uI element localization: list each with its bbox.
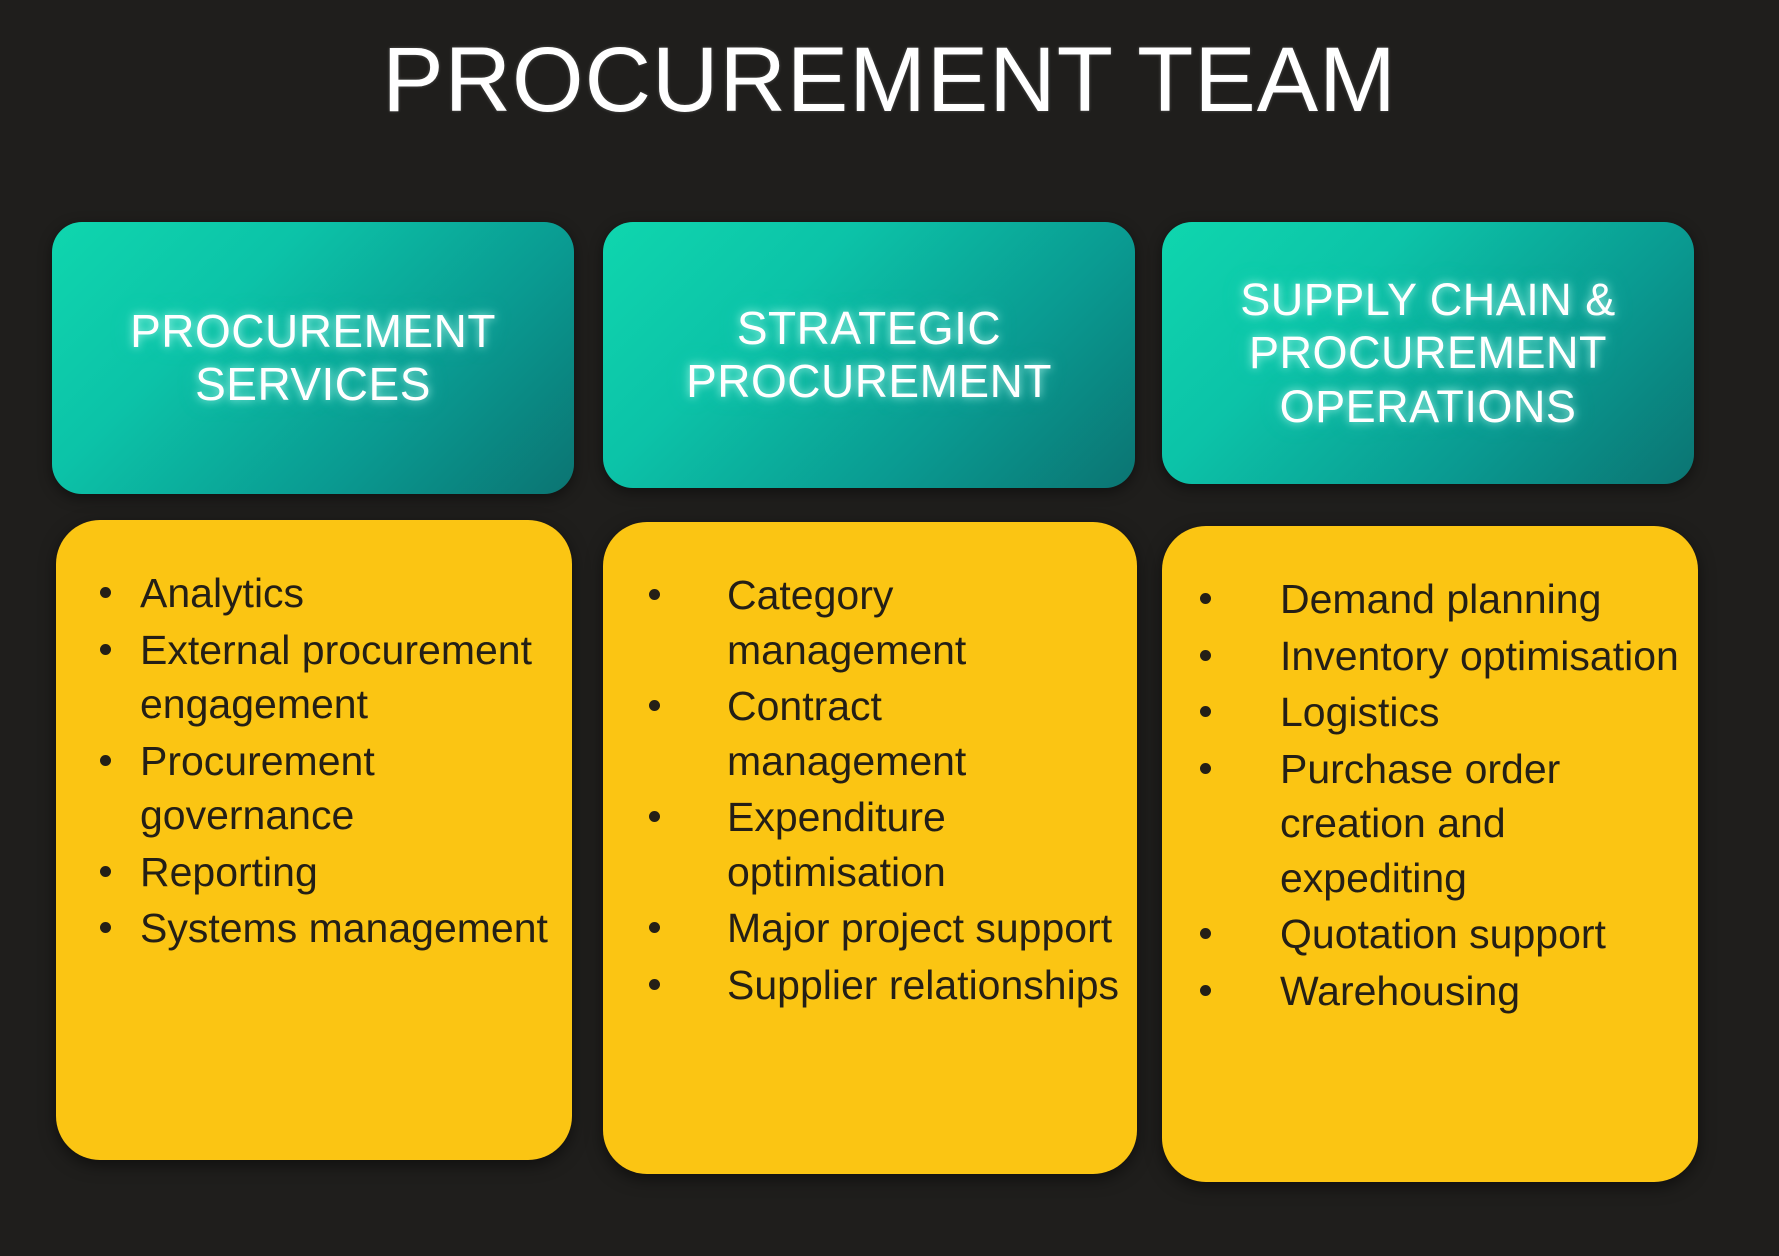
body-card-supply-chain-operations: Demand planning Inventory optimisation L…	[1162, 526, 1698, 1182]
bullet-icon	[649, 700, 660, 711]
list-item-label: Quotation support	[1280, 911, 1606, 957]
body-card-strategic-procurement: Category management Contract management …	[603, 522, 1137, 1174]
list-item-label: Inventory optimisation	[1280, 633, 1679, 679]
header-card-procurement-services[interactable]: PROCUREMENT SERVICES	[52, 222, 574, 494]
list-item-label: Logistics	[1280, 689, 1440, 735]
bullet-icon	[649, 811, 660, 822]
page-title: PROCUREMENT TEAM	[0, 32, 1779, 129]
header-card-title: PROCUREMENT SERVICES	[70, 305, 556, 412]
header-card-title: STRATEGIC PROCUREMENT	[621, 302, 1117, 409]
list-item-label: Contract management	[727, 683, 966, 784]
list-item: Systems management	[78, 901, 558, 956]
list-item: External procurement engagement	[78, 623, 558, 732]
header-card-strategic-procurement[interactable]: STRATEGIC PROCUREMENT	[603, 222, 1135, 488]
list-item: Inventory optimisation	[1172, 629, 1688, 684]
bullet-icon	[100, 922, 111, 933]
list-item-label: Procurement governance	[140, 738, 375, 839]
bullet-icon	[1200, 593, 1211, 604]
body-card-procurement-services: Analytics External procurement engagemen…	[56, 520, 572, 1160]
list-item: Analytics	[78, 566, 558, 621]
list-item: Warehousing	[1172, 964, 1688, 1019]
header-card-supply-chain-operations[interactable]: SUPPLY CHAIN & PROCUREMENT OPERATIONS	[1162, 222, 1694, 484]
list-item-label: Purchase order creation and expediting	[1280, 746, 1560, 901]
bullet-icon	[100, 644, 111, 655]
list-item: Reporting	[78, 845, 558, 900]
bullet-icon	[1200, 985, 1211, 996]
bullet-icon	[100, 866, 111, 877]
feature-list-supply-chain-operations: Demand planning Inventory optimisation L…	[1172, 572, 1688, 1018]
bullet-icon	[1200, 763, 1211, 774]
team-structure-board: PROCUREMENT SERVICES Analytics External …	[0, 190, 1779, 1210]
bullet-icon	[1200, 706, 1211, 717]
list-item: Contract management	[619, 679, 1127, 788]
list-item-label: Systems management	[140, 905, 548, 951]
list-item: Logistics	[1172, 685, 1688, 740]
list-item-label: Category management	[727, 572, 966, 673]
feature-list-strategic-procurement: Category management Contract management …	[619, 568, 1127, 1012]
list-item-label: Major project support	[727, 905, 1112, 951]
feature-list-procurement-services: Analytics External procurement engagemen…	[78, 566, 558, 956]
list-item-label: Reporting	[140, 849, 318, 895]
list-item: Expenditure optimisation	[619, 790, 1127, 899]
list-item-label: Expenditure optimisation	[727, 794, 946, 895]
list-item-label: Demand planning	[1280, 576, 1601, 622]
list-item: Category management	[619, 568, 1127, 677]
header-card-title: SUPPLY CHAIN & PROCUREMENT OPERATIONS	[1180, 273, 1676, 432]
bullet-icon	[100, 587, 111, 598]
bullet-icon	[100, 755, 111, 766]
list-item-label: Warehousing	[1280, 968, 1520, 1014]
list-item-label: Analytics	[140, 570, 304, 616]
list-item: Demand planning	[1172, 572, 1688, 627]
list-item: Supplier relationships	[619, 958, 1127, 1013]
list-item: Purchase order creation and expediting	[1172, 742, 1688, 906]
list-item: Quotation support	[1172, 907, 1688, 962]
list-item-label: Supplier relationships	[727, 962, 1119, 1008]
bullet-icon	[649, 979, 660, 990]
list-item: Procurement governance	[78, 734, 558, 843]
bullet-icon	[1200, 928, 1211, 939]
bullet-icon	[649, 922, 660, 933]
bullet-icon	[1200, 650, 1211, 661]
list-item-label: External procurement engagement	[140, 627, 532, 728]
bullet-icon	[649, 589, 660, 600]
list-item: Major project support	[619, 901, 1127, 956]
